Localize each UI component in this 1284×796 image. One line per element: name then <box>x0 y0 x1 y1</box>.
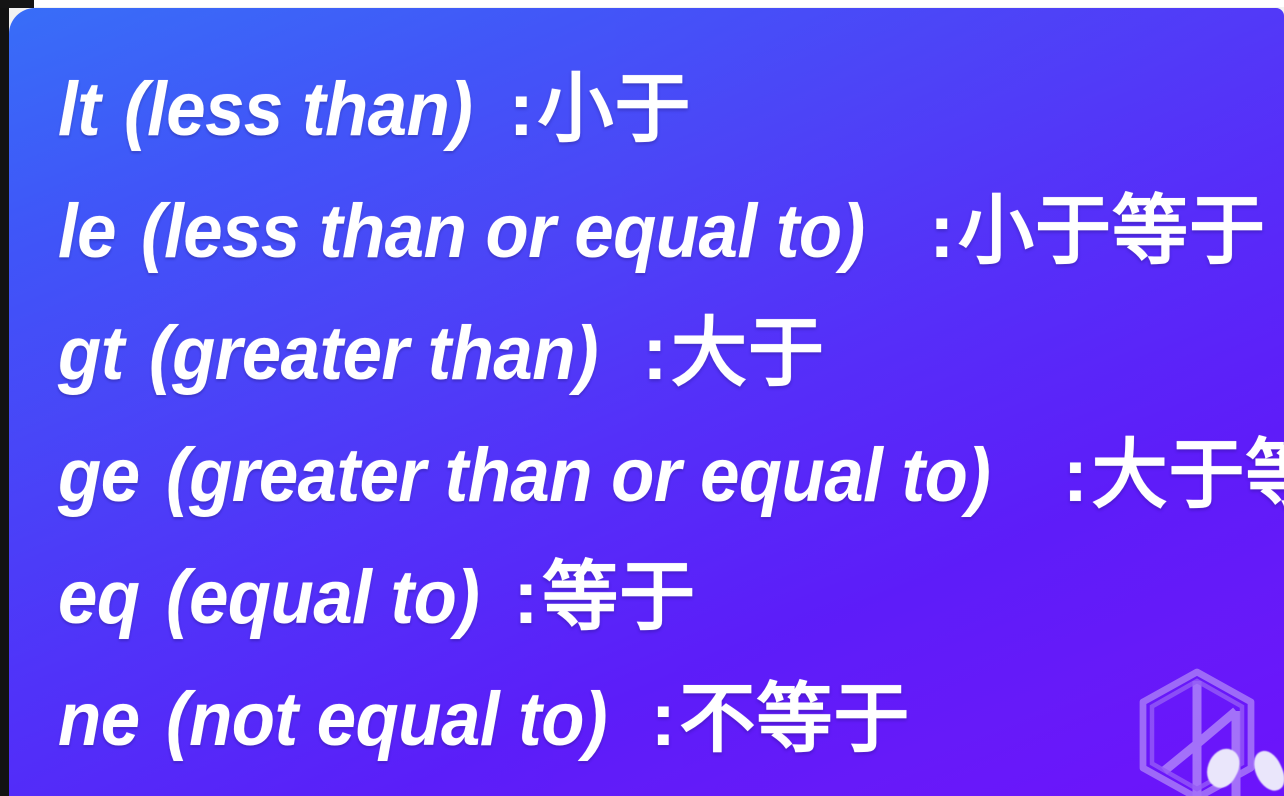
operator-chinese: 小于 <box>537 48 691 170</box>
operator-english: (greater than) <box>149 293 598 415</box>
operator-term: gt <box>58 293 124 415</box>
frame-top-edge <box>0 0 1284 7</box>
operator-english: (less than) <box>124 49 472 171</box>
operator-chinese: 等于 <box>542 536 696 658</box>
list-item: eq (equal to):等于 <box>58 536 1273 658</box>
operator-chinese: 不等于 <box>679 658 910 780</box>
operator-list: lt (less than):小于 le (less than or equal… <box>58 48 1273 780</box>
operator-term: lt <box>58 49 100 171</box>
gradient-card: lt (less than):小于 le (less than or equal… <box>9 8 1284 796</box>
separator: : <box>641 659 680 781</box>
operator-chinese: 大于等于 <box>1092 414 1284 536</box>
operator-english: (greater than or equal to) <box>166 415 990 537</box>
separator: : <box>632 293 671 415</box>
list-item: lt (less than):小于 <box>58 48 1273 170</box>
list-item: gt (greater than):大于 <box>58 292 1273 414</box>
slide-canvas: lt (less than):小于 le (less than or equal… <box>0 0 1284 796</box>
separator: : <box>919 171 958 293</box>
separator: : <box>1053 415 1092 537</box>
list-item: ne (not equal to):不等于 <box>58 658 1273 780</box>
frame-left-edge <box>0 0 9 796</box>
operator-term: le <box>58 171 116 293</box>
operator-english: (less than or equal to) <box>141 171 865 293</box>
operator-term: eq <box>58 537 140 659</box>
operator-chinese: 小于等于 <box>958 170 1266 292</box>
operator-chinese: 大于 <box>671 292 825 414</box>
operator-english: (not equal to) <box>166 659 607 781</box>
operator-term: ge <box>58 415 140 537</box>
list-item: le (less than or equal to):小于等于 <box>58 170 1273 292</box>
operator-term: ne <box>58 659 140 781</box>
list-item: ge (greater than or equal to):大于等于 <box>58 414 1273 536</box>
separator: : <box>503 537 542 659</box>
separator: : <box>499 49 538 171</box>
operator-english: (equal to) <box>166 537 479 659</box>
frame-top-left-corner <box>0 0 34 8</box>
